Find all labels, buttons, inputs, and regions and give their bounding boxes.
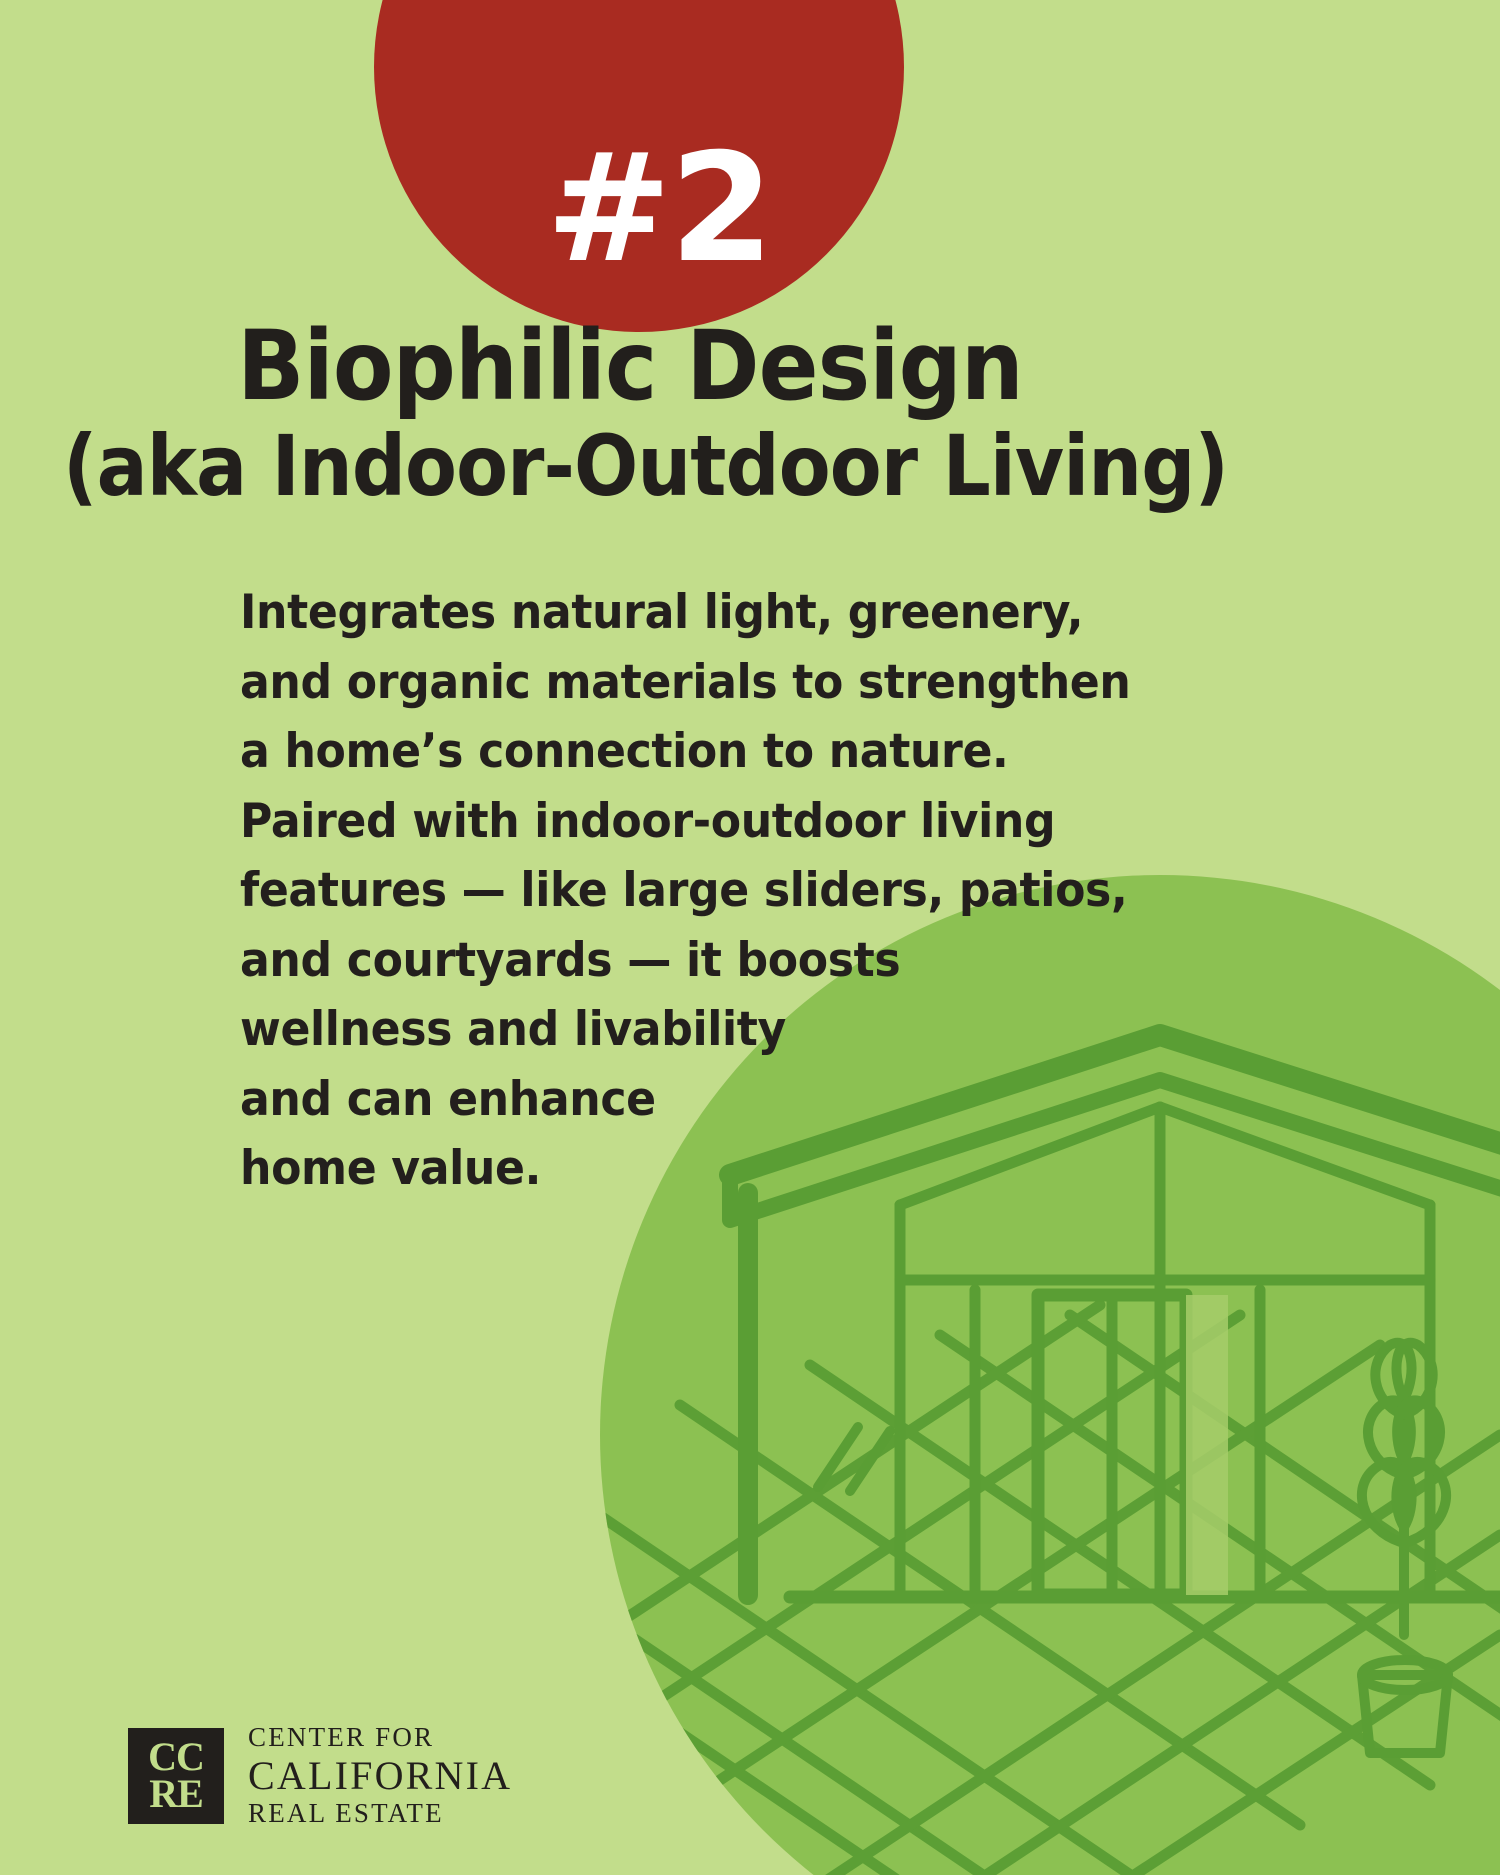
body-line: a home’s connection to nature. (240, 717, 1011, 787)
body-line: Paired with indoor-outdoor living (240, 787, 1011, 857)
body-line: home value. (240, 1134, 1011, 1204)
window-glass-icon (818, 1427, 890, 1491)
patio-tiles-icon (600, 1305, 1500, 1875)
body-line: Integrates natural light, greenery, (240, 578, 1011, 648)
logo-wordmark-line-3: REAL ESTATE (248, 1798, 512, 1830)
body-line: wellness and livability (240, 995, 1011, 1065)
page-subtitle: (aka Indoor-Outdoor Living) (63, 424, 1197, 510)
body-line: and organic materials to strengthen (240, 648, 1011, 718)
body-line: features — like large sliders, patios, (240, 856, 1011, 926)
headline-block: Biophilic Design (aka Indoor-Outdoor Liv… (0, 318, 1260, 510)
logo-wordmark-line-1: CENTER FOR (248, 1722, 512, 1754)
body-line: and courtyards — it boosts (240, 926, 1011, 996)
logo-monogram-bottom: RE (149, 1776, 203, 1813)
badge-number-label: #2 (506, 134, 772, 332)
page-title: Biophilic Design (50, 318, 1209, 416)
ccre-logo-lockup: CC RE CENTER FOR CALIFORNIA REAL ESTATE (128, 1722, 512, 1830)
body-line: and can enhance (240, 1065, 1011, 1135)
potted-plant-icon (1362, 1343, 1448, 1753)
ccre-logo-mark: CC RE (128, 1728, 224, 1824)
logo-wordmark: CENTER FOR CALIFORNIA REAL ESTATE (248, 1722, 512, 1830)
logo-wordmark-line-2: CALIFORNIA (248, 1754, 512, 1798)
sliding-door-icon (1186, 1295, 1228, 1595)
logo-monogram: CC RE (128, 1728, 224, 1824)
number-badge: #2 (374, 0, 904, 332)
body-copy-block: Integrates natural light, greenery, and … (240, 578, 1060, 1204)
poster-canvas: #2 Biophilic Design (aka Indoor-Outdoor … (0, 0, 1500, 1875)
